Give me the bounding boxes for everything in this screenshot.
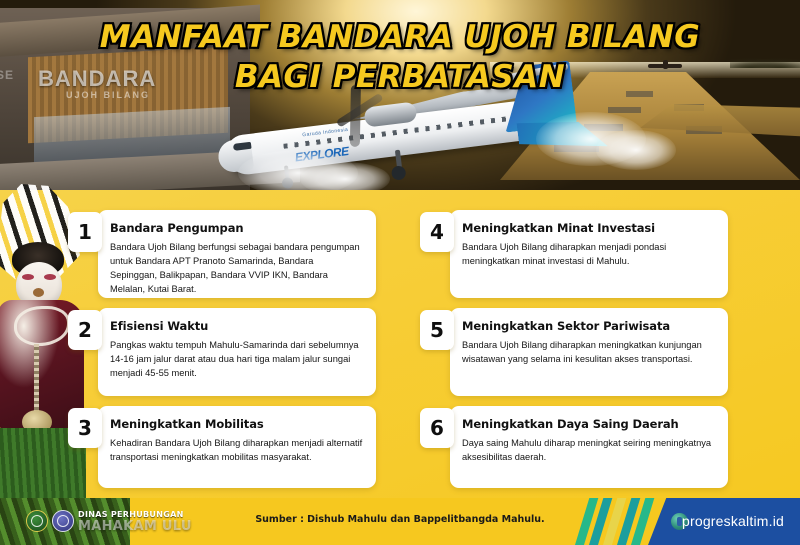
benefit-card-title: Meningkatkan Sektor Pariwisata [450,308,728,333]
benefit-number-badge: 2 [68,310,102,350]
main-gear-wheel [391,165,407,181]
header-banner: SE BANDARA UJOH BILANG Garuda Indonesia … [0,0,800,190]
benefit-card[interactable]: Bandara Pengumpan Bandara Ujoh Bilang be… [98,210,376,298]
benefit-card-title: Bandara Pengumpan [98,210,376,235]
benefit-card[interactable]: Meningkatkan Sektor Pariwisata Bandara U… [450,308,728,396]
benefit-number-badge: 6 [420,408,454,448]
exhaust-smoke-2 [300,162,390,190]
benefit-card-title: Meningkatkan Mobilitas [98,406,376,431]
benefit-number-badge: 3 [68,408,102,448]
benefit-card-description: Bandara Ujoh Bilang diharapkan menjadi p… [450,235,728,268]
benefit-card-description: Pangkas waktu tempuh Mahulu-Samarinda da… [98,333,376,380]
exhaust-smoke-4 [596,130,676,170]
title-line-2: BAGI PERBATASAN [0,58,800,98]
benefit-number-badge: 5 [420,310,454,350]
benefit-card-description: Bandara Ujoh Bilang diharapkan meningkat… [450,333,728,366]
benefit-card-description: Kehadiran Bandara Ujoh Bilang diharapkan… [98,431,376,464]
benefit-card-description: Bandara Ujoh Bilang berfungsi sebagai ba… [98,235,376,297]
benefit-card-title: Meningkatkan Daya Saing Daerah [450,406,728,431]
benefit-card[interactable]: Meningkatkan Minat Investasi Bandara Ujo… [450,210,728,298]
infographic-poster: SE BANDARA UJOH BILANG Garuda Indonesia … [0,0,800,545]
benefit-card-description: Daya saing Mahulu diharap meningkat seir… [450,431,728,464]
footer-bar: DINAS PERHUBUNGAN MAHAKAM ULU Sumber : D… [0,498,800,545]
title-line-1: MANFAAT BANDARA UJOH BILANG [0,18,800,58]
benefit-card[interactable]: Meningkatkan Daya Saing Daerah Daya sain… [450,406,728,488]
benefit-card[interactable]: Efisiensi Waktu Pangkas waktu tempuh Mah… [98,308,376,396]
footer-brand-name[interactable]: progreskaltim.id [682,513,784,529]
benefit-number-badge: 4 [420,212,454,252]
benefit-card-title: Efisiensi Waktu [98,308,376,333]
benefit-card-title: Meningkatkan Minat Investasi [450,210,728,235]
poster-title: MANFAAT BANDARA UJOH BILANG BAGI PERBATA… [0,18,800,97]
benefits-section: Bandara Pengumpan Bandara Ujoh Bilang be… [0,190,800,498]
benefit-cards-grid: Bandara Pengumpan Bandara Ujoh Bilang be… [0,190,800,498]
benefit-card[interactable]: Meningkatkan Mobilitas Kehadiran Bandara… [98,406,376,488]
benefit-number-badge: 1 [68,212,102,252]
